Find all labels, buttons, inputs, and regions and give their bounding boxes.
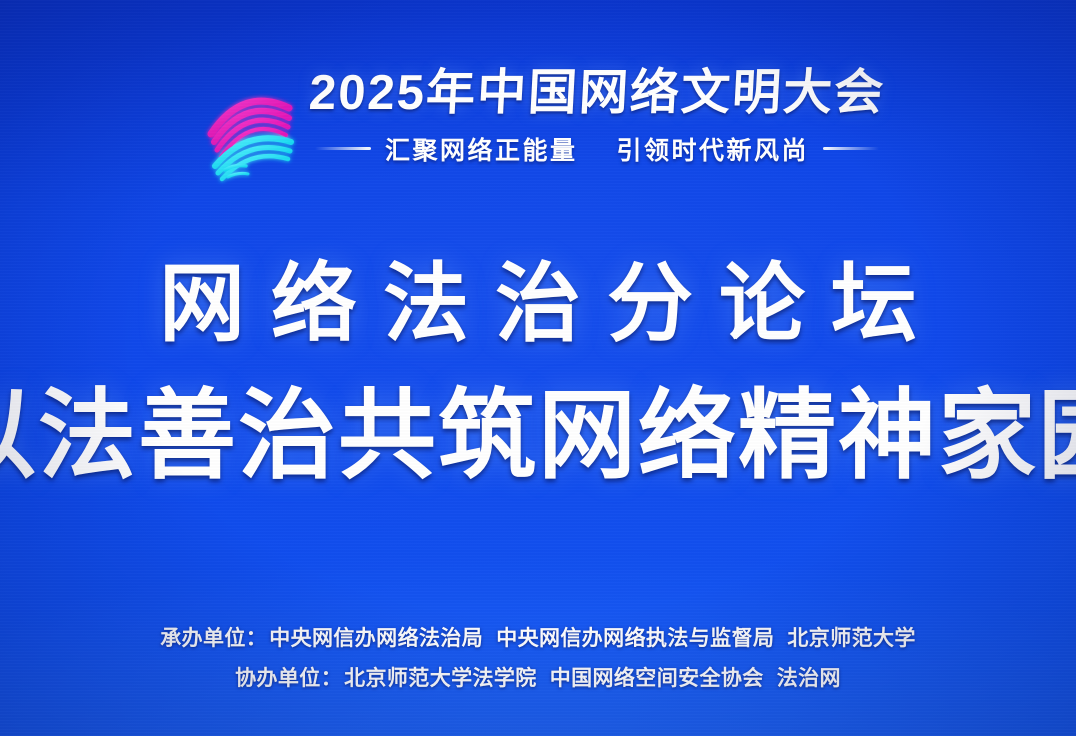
dash-right-decoration-icon bbox=[823, 147, 879, 150]
conference-slogan: 汇聚网络正能量 引领时代新风尚 bbox=[385, 131, 809, 167]
dash-left-decoration-icon bbox=[315, 147, 371, 150]
organizers-label: 承办单位： bbox=[160, 627, 267, 650]
organizer-item: 中央网信办网络法治局 bbox=[269, 627, 483, 650]
conference-header-text: 2025年中国网络文明大会 汇聚网络正能量 引领时代新风尚 bbox=[309, 68, 885, 167]
co-organizer-item: 法治网 bbox=[777, 667, 841, 690]
organizer-item: 中央网信办网络执法与监督局 bbox=[496, 627, 774, 650]
organizer-item: 北京师范大学 bbox=[787, 627, 915, 650]
slogan-right-text: 引领时代新风尚 bbox=[616, 137, 809, 165]
credits-block: 承办单位：中央网信办网络法治局中央网信办网络执法与监督局北京师范大学 协办单位：… bbox=[0, 628, 1076, 689]
conference-header: 2025年中国网络文明大会 汇聚网络正能量 引领时代新风尚 bbox=[0, 66, 1076, 186]
co-organizer-item: 北京师范大学法学院 bbox=[344, 667, 537, 690]
conference-slogan-row: 汇聚网络正能量 引领时代新风尚 bbox=[309, 131, 885, 167]
slogan-left-text: 汇聚网络正能量 bbox=[385, 137, 578, 165]
conference-backdrop-screen: 2025年中国网络文明大会 汇聚网络正能量 引领时代新风尚 网络法治分论坛 以法… bbox=[0, 0, 1076, 736]
co-organizers-line: 协办单位：北京师范大学法学院中国网络空间安全协会法治网 bbox=[0, 668, 1076, 689]
conference-title: 2025年中国网络文明大会 bbox=[308, 68, 887, 120]
forum-title: 网络法治分论坛 bbox=[0, 258, 1076, 351]
conference-emblem-icon bbox=[191, 78, 303, 186]
forum-subtitle: 以法善治共筑网络精神家园 bbox=[0, 382, 1076, 490]
organizers-line: 承办单位：中央网信办网络法治局中央网信办网络执法与监督局北京师范大学 bbox=[0, 628, 1076, 649]
co-organizer-item: 中国网络空间安全协会 bbox=[550, 667, 764, 690]
co-organizers-label: 协办单位： bbox=[235, 667, 342, 690]
